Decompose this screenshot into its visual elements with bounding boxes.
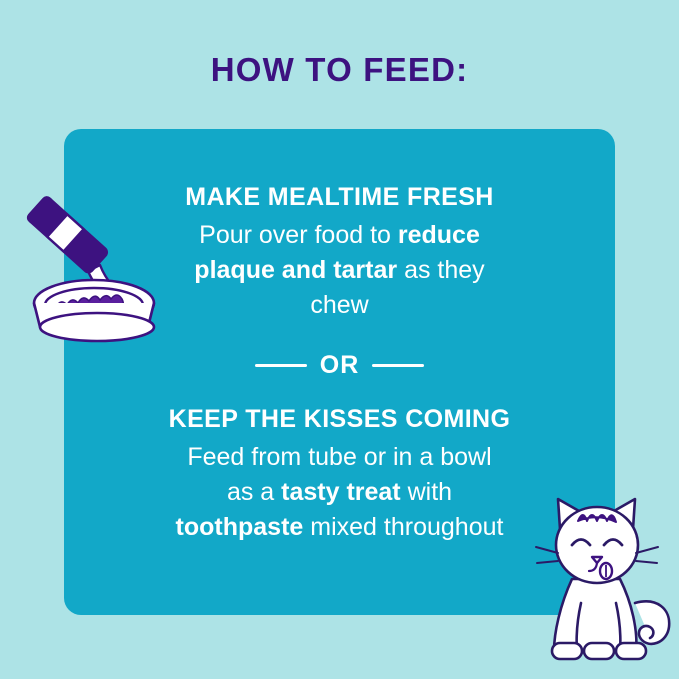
plain-text: Feed from tube or in a bowl (187, 443, 491, 471)
toothpaste-tube-pouring-into-bowl-illustration (18, 193, 178, 343)
plain-text: with (401, 478, 452, 506)
cat-icon (534, 487, 679, 679)
instruction-block-keep-the-kisses-coming: KEEP THE KISSES COMING Feed from tube or… (64, 403, 615, 545)
emphasis-text: reduce (398, 221, 480, 249)
instruction-line: Feed from tube or in a bowl (64, 440, 615, 475)
divider-line-right (372, 364, 424, 367)
plain-text: as they (397, 256, 485, 284)
divider-line-left (255, 364, 307, 367)
page-title: HOW TO FEED: (0, 50, 679, 90)
emphasis-text: toothpaste (176, 513, 304, 541)
plain-text: mixed throughout (303, 513, 503, 541)
poster-canvas: HOW TO FEED: MAKE MEALTIME FRESH Pour ov… (0, 0, 679, 679)
emphasis-text: tasty treat (281, 478, 401, 506)
happy-cat-illustration (534, 487, 679, 679)
or-divider: OR (64, 351, 615, 380)
bowl-icon (18, 193, 178, 343)
instruction-line: toothpaste mixed throughout (64, 510, 615, 545)
instruction-line: as a tasty treat with (64, 475, 615, 510)
plain-text: as a (227, 478, 281, 506)
emphasis-text: plaque and tartar (194, 256, 397, 284)
plain-text: chew (310, 291, 368, 319)
instruction-heading: KEEP THE KISSES COMING (64, 403, 615, 435)
or-label: OR (320, 351, 360, 380)
plain-text: Pour over food to (199, 221, 398, 249)
instruction-body: Feed from tube or in a bowlas a tasty tr… (64, 440, 615, 545)
